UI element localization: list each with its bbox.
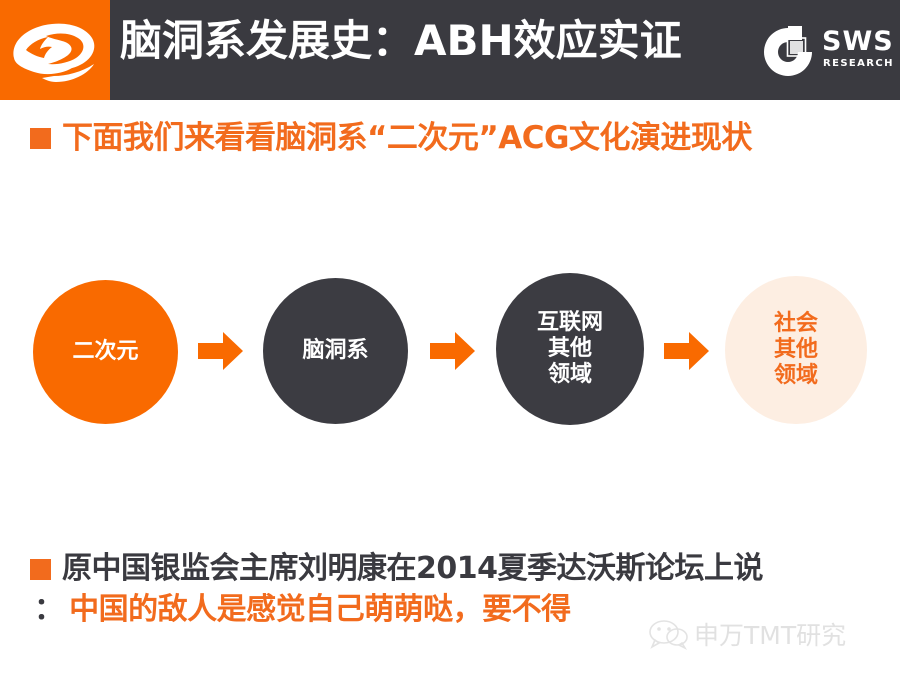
subtitle-text: 下面我们来看看脑洞系“二次元”ACG文化演进现状 xyxy=(62,120,752,156)
flow-node-4-label: 社会 其他 领域 xyxy=(774,311,818,389)
flow-node-1-label: 二次元 xyxy=(72,339,138,365)
flow-node-3-label: 互联网 其他 领域 xyxy=(537,310,603,388)
bottom-line1-text: 原中国银监会主席刘明康在2014夏季达沃斯论坛上说 xyxy=(62,550,763,588)
sws-brand-logo: SWS RESEARCH xyxy=(760,22,888,80)
flow-node-4: 社会 其他 领域 xyxy=(725,276,867,424)
watermark-text: 申万TMT研究 xyxy=(694,621,846,651)
subtitle-bullet-row: 下面我们来看看脑洞系“二次元”ACG文化演进现状 xyxy=(30,120,752,156)
header-title-bar: 脑洞系发展史：ABH效应实证 SWS RESEARCH xyxy=(110,0,900,100)
right-block-arrow-icon-1 xyxy=(198,330,244,372)
page-title: 脑洞系发展史：ABH效应实证 xyxy=(120,13,682,69)
flow-node-1: 二次元 xyxy=(33,280,178,424)
square-bullet-icon xyxy=(30,559,51,580)
slide-header: 脑洞系发展史：ABH效应实证 SWS RESEARCH xyxy=(0,0,900,100)
brand-logo-tile xyxy=(0,0,110,100)
bottom-line1-row: 原中国银监会主席刘明康在2014夏季达沃斯论坛上说 xyxy=(30,550,890,588)
wechat-bubble-icon xyxy=(648,618,688,654)
right-block-arrow-icon-3 xyxy=(664,330,710,372)
flow-node-2: 脑洞系 xyxy=(263,278,408,424)
square-bullet-icon xyxy=(30,128,51,149)
evolution-flow-diagram: 二次元 脑洞系 互联网 其他 领域 社会 其他 领域 xyxy=(0,268,900,436)
bottom-highlight-text: 中国的敌人是感觉自己萌萌哒，要不得 xyxy=(69,592,571,627)
bottom-colon: ： xyxy=(34,592,64,627)
sws-wordmark: SWS xyxy=(822,28,894,56)
flow-node-3: 互联网 其他 领域 xyxy=(496,273,644,425)
sws-subtext: RESEARCH xyxy=(823,58,894,69)
right-block-arrow-icon-2 xyxy=(430,330,476,372)
watermark: 申万TMT研究 xyxy=(648,618,846,654)
flow-node-2-label: 脑洞系 xyxy=(302,338,368,364)
sws-circle-square-mark-icon xyxy=(760,24,816,82)
